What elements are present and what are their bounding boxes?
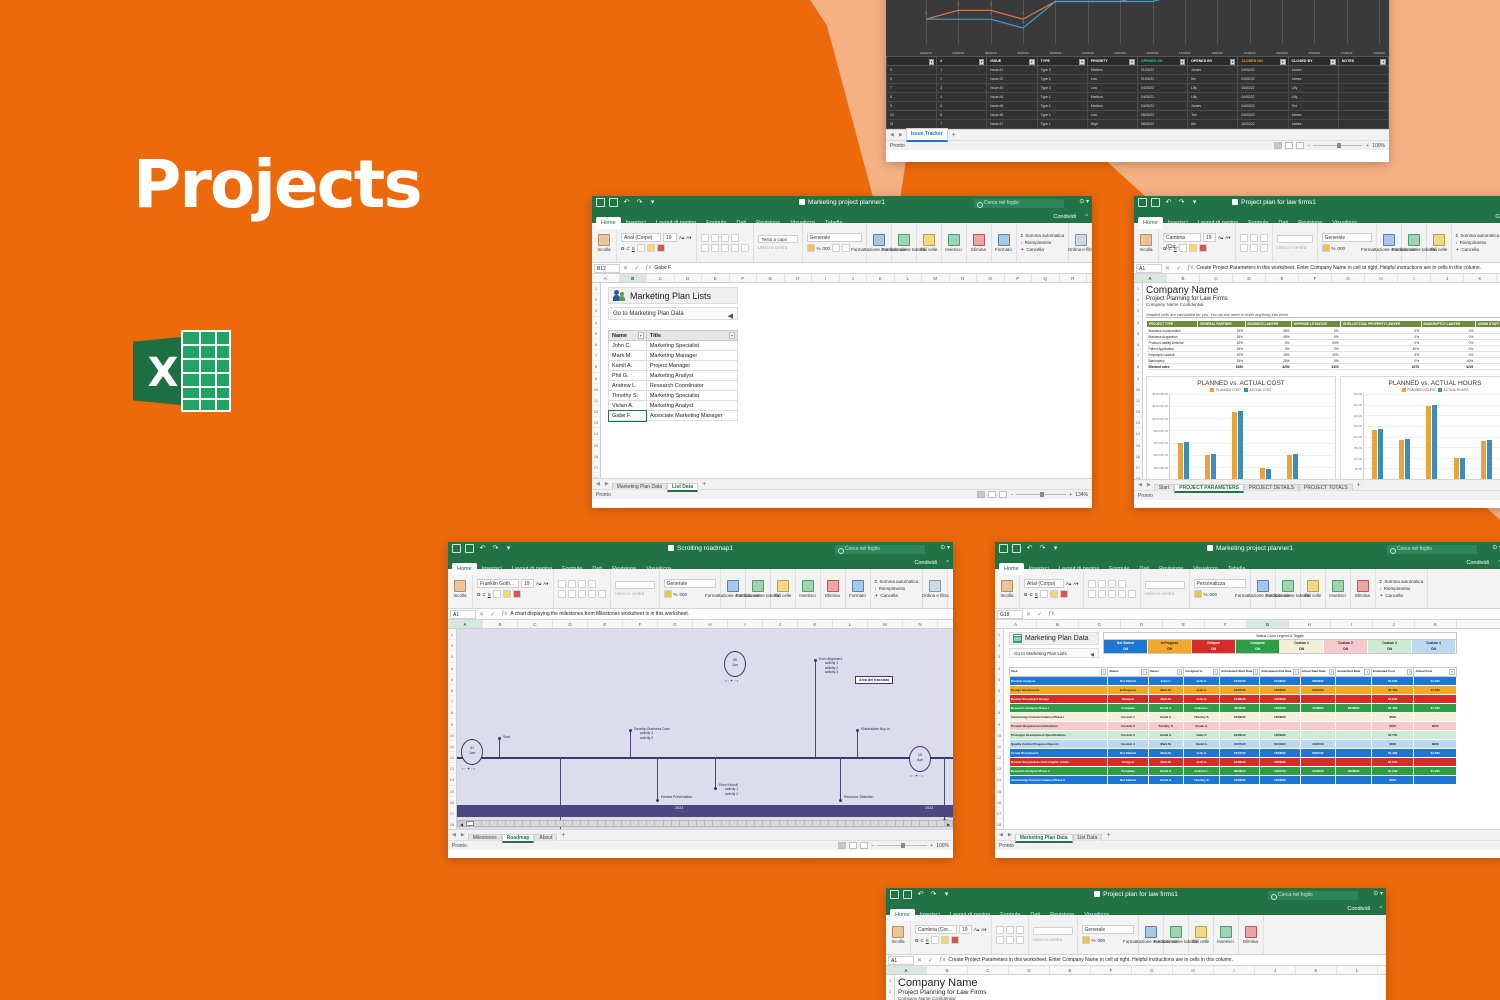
ribbon-tab-visualizza[interactable]: Visualizza (785, 217, 820, 229)
column-header-D[interactable]: D (1233, 274, 1266, 282)
table-cell[interactable]: Product Requirement Definitions (1010, 721, 1108, 730)
row-header-2[interactable]: 2 (1134, 294, 1142, 305)
sheet-nav-prev-icon[interactable]: ◀ (450, 832, 458, 838)
table-cell[interactable]: Quality Control Progress Reports (1010, 739, 1108, 748)
currency-icon[interactable] (664, 590, 672, 598)
table-cell[interactable]: $1.000 (1414, 676, 1457, 685)
row-header-11[interactable]: 11 (995, 741, 1003, 752)
legend-toggle[interactable]: ON (1368, 647, 1411, 653)
column-header-F[interactable]: F (1299, 274, 1332, 282)
zoom-slider[interactable] (1016, 494, 1066, 495)
table-cell[interactable]: Blended rates (1147, 364, 1198, 370)
scrollbar-cell[interactable] (697, 821, 705, 826)
bar-group[interactable]: GENERAL PARTNER (1372, 394, 1383, 479)
comma-icon[interactable]: 000 (1210, 592, 1218, 597)
ribbon-group-format-table[interactable]: Formato come tabella (1276, 569, 1301, 608)
clear-icon[interactable]: ✦ (1380, 593, 1384, 599)
comma-icon[interactable]: 000 (1338, 246, 1346, 251)
legend-item-custom-3[interactable]: Custom 3ON (1368, 640, 1412, 653)
align-top-icon[interactable] (701, 234, 709, 242)
table-row[interactable]: 62Issue #2Type 1Low01/03/22Ibn04/02/22Ja… (887, 75, 1389, 84)
ribbon-group-cells[interactable]: Inserisci (1326, 569, 1351, 608)
column-header-E[interactable]: E (1050, 966, 1091, 974)
align-middle-icon[interactable] (1098, 580, 1106, 588)
cell-styles-icon[interactable] (1195, 926, 1207, 938)
ribbon-group-delete[interactable]: Elimina (821, 569, 846, 608)
autosum-label[interactable]: Somma automatica (879, 579, 918, 584)
column-header-B[interactable]: B (927, 966, 968, 974)
table-cell[interactable]: Ted (1188, 111, 1238, 120)
insert-function-icon[interactable]: ƒx (939, 957, 945, 963)
table-cell[interactable]: Timothy S. (1148, 721, 1184, 730)
bar-planned[interactable] (1454, 458, 1459, 479)
autosum-label[interactable]: Somma automatica (1025, 233, 1064, 238)
ribbon-tab-layout-di-pagina[interactable]: Layout di pagina (651, 217, 701, 229)
zoom-out-icon[interactable]: − (1307, 143, 1310, 149)
font-size-box[interactable]: 19 (1203, 233, 1216, 242)
legend-toggle[interactable]: ON (1192, 647, 1235, 653)
table-row[interactable]: Phil G.Marketing Analyst (609, 371, 738, 381)
titlebar-marketing-data[interactable]: ↶ ↷ ▾ Marketing project planner1 Cerca n… (995, 542, 1500, 557)
scrollbar-cell[interactable] (622, 821, 630, 826)
scrollbar-cell[interactable] (747, 821, 755, 826)
scrollbar-cell[interactable] (738, 821, 746, 826)
table-cell[interactable]: Mark M. (1148, 748, 1184, 757)
date-badge[interactable]: 15Apr (909, 746, 931, 772)
table-cell[interactable]: Ibn (1188, 75, 1238, 84)
row-header-8[interactable]: 8 (995, 707, 1003, 718)
row-header-11[interactable]: 11 (1134, 395, 1142, 406)
legend-toggle[interactable]: ON (1324, 647, 1367, 653)
table-cell[interactable]: 11/08/22 (1300, 766, 1336, 775)
row-header-14[interactable]: 14 (592, 428, 600, 439)
row-header-16[interactable]: 16 (1134, 451, 1142, 462)
column-header-G[interactable]: G (1247, 620, 1289, 628)
percent-icon[interactable]: % (1332, 246, 1336, 251)
table-cell[interactable] (1336, 775, 1372, 784)
column-header-D[interactable]: D (1121, 620, 1163, 628)
ribbon-tab-inserisci[interactable]: Inserisci (621, 217, 651, 229)
scrollbar-cell[interactable] (805, 821, 813, 826)
row-header[interactable]: 8 (887, 93, 937, 102)
bar-actual[interactable] (1238, 411, 1243, 479)
scrollbar-cell[interactable] (904, 821, 912, 826)
column-header-A[interactable]: A (448, 620, 483, 628)
bold-icon[interactable]: G (477, 592, 481, 597)
borders-icon[interactable] (931, 936, 939, 944)
table-cell[interactable]: $125 (1475, 364, 1500, 370)
autosum-icon[interactable]: Σ (875, 579, 878, 584)
cell-styles-icon[interactable] (777, 580, 789, 592)
ribbon-tab-dati[interactable]: Dati (1273, 217, 1293, 229)
bar-actual[interactable] (1432, 405, 1437, 479)
name-box[interactable]: B12 (594, 264, 620, 273)
table-cell[interactable]: Timothy S. (1184, 775, 1220, 784)
ribbon-tab-revisione[interactable]: Revisione (751, 217, 785, 229)
table-cell[interactable] (1300, 721, 1336, 730)
format-as-table-icon[interactable] (1282, 580, 1294, 592)
row-header-15[interactable]: 15 (448, 786, 456, 797)
decrease-indent-icon[interactable] (731, 244, 739, 252)
ribbon-tab-visualizza[interactable]: Visualizza (1327, 217, 1362, 229)
cell-styles-icon[interactable] (1433, 234, 1445, 246)
underline-icon[interactable]: S (632, 246, 635, 251)
column-header-H[interactable]: H (1365, 274, 1398, 282)
ribbon-roadmap[interactable]: Incolla Franklin Goth... 19 A▴ A▾ G C S (448, 569, 953, 609)
go-to-marketing-plan-lists-link[interactable]: Go to Marketing Plan Lists ◀ (1009, 648, 1099, 658)
column-header-M[interactable]: M (922, 274, 950, 282)
font-name-box[interactable]: Arial (Corpo) (1024, 579, 1064, 588)
insert-function-icon[interactable]: ƒx (501, 611, 507, 617)
row-header-15[interactable]: 15 (995, 786, 1003, 797)
add-sheet-icon[interactable]: + (1354, 482, 1364, 489)
column-header-E[interactable]: E (702, 274, 730, 282)
table-cell[interactable]: Type 1 (1037, 75, 1087, 84)
ribbon-tab-revisione[interactable]: Revisione (1293, 217, 1327, 229)
row-header-17[interactable]: 17 (448, 808, 456, 819)
row-header-7[interactable]: 7 (995, 696, 1003, 707)
table-cell[interactable] (1338, 111, 1388, 120)
bar-group[interactable]: BUSINESS LAWYER (1205, 394, 1216, 479)
table-cell[interactable]: $1.499 (1372, 748, 1414, 757)
clear-label[interactable]: Cancella (1461, 247, 1479, 252)
zoom-slider[interactable] (1313, 145, 1363, 146)
table-cell[interactable] (1336, 748, 1372, 757)
table-row[interactable]: 73Issue #3Type 3Low04/03/22Lilly04/03/22… (887, 84, 1389, 93)
table-cell[interactable]: Issue #4 (987, 93, 1037, 102)
table-row[interactable]: Advertising Content Creation Phase ICust… (1010, 712, 1457, 721)
column-header-J[interactable]: J (1373, 620, 1415, 628)
align-center-icon[interactable] (1098, 590, 1106, 598)
table-cell[interactable]: Marketing Specialist (646, 391, 737, 401)
sheet-tab-marketing-plan-data[interactable]: Marketing Plan Data (612, 483, 667, 490)
decrease-indent-icon[interactable] (1118, 590, 1126, 598)
table-row[interactable]: Create StoryboardsNot StartedMark M.John… (1010, 748, 1457, 757)
table-cell[interactable]: 30/08/22 (1260, 694, 1300, 703)
column-header-O[interactable]: O (977, 274, 1005, 282)
sheet-tab-list-data[interactable]: List Data (667, 483, 698, 492)
table-cell[interactable]: Marketing Analyst (646, 401, 737, 411)
row-header-9[interactable]: 9 (592, 373, 600, 384)
column-header-B[interactable]: B (483, 620, 518, 628)
zoom-out-icon[interactable]: − (871, 843, 874, 849)
row-header-7[interactable]: 7 (1134, 350, 1142, 361)
align-left-icon[interactable] (1240, 244, 1248, 252)
column-header-type[interactable]: TYPE (1037, 57, 1087, 66)
row-header-2[interactable]: 2 (886, 986, 894, 997)
table-cell[interactable]: John C. (1184, 748, 1220, 757)
font-name-box[interactable]: Arial (Corpo) (621, 233, 661, 242)
scrollbar-cell[interactable] (854, 821, 862, 826)
sheet-nav-prev-icon[interactable]: ◀ (1136, 482, 1144, 488)
table-cell[interactable]: 08/08/22 (1220, 766, 1260, 775)
table-cell[interactable]: Advertising Content Creation Phase I (1010, 712, 1108, 721)
italic-icon[interactable]: C (483, 592, 486, 597)
table-cell[interactable] (1336, 721, 1372, 730)
table-row[interactable]: Review Storyboards with Graphic ArtistsD… (1010, 757, 1457, 766)
ribbon-tab-visualizza[interactable]: Visualizza (1079, 909, 1114, 921)
table-cell[interactable]: Type 1 (1037, 120, 1087, 129)
column-header-C[interactable]: C (1200, 274, 1233, 282)
clear-icon[interactable]: ✦ (875, 593, 879, 599)
column-header-row-law-firm-bottom[interactable]: ABCDEFGHIJKL (886, 966, 1386, 975)
column-header-K[interactable]: K (1415, 620, 1457, 628)
sheet-nav-next-icon[interactable]: ▶ (459, 832, 467, 838)
row-header-18[interactable]: 18 (1134, 473, 1142, 479)
column-header-priority[interactable]: PRIORITY (1087, 57, 1137, 66)
currency-icon[interactable] (1322, 244, 1330, 252)
table-cell[interactable]: 04/02/22 (1238, 93, 1288, 102)
insert-function-icon[interactable]: ƒx (1187, 265, 1193, 271)
table-row[interactable]: John C.Marketing Specialist (609, 341, 738, 351)
sheet-tab-bar-marketing-data[interactable]: ◀ ▶ Marketing Plan DataList Data + (995, 829, 1500, 840)
row-header[interactable]: 6 (887, 75, 937, 84)
increase-indent-icon[interactable] (1128, 590, 1136, 598)
autosum-label[interactable]: Somma automatica (1384, 579, 1423, 584)
column-header[interactable]: Status (1108, 668, 1148, 677)
align-left-icon[interactable] (558, 590, 566, 598)
table-cell[interactable] (1336, 730, 1372, 739)
scroll-left-icon[interactable]: ◀ (458, 821, 465, 826)
confirm-edit-icon[interactable]: ✓ (490, 611, 495, 618)
confirm-edit-icon[interactable]: ✓ (928, 957, 933, 964)
bar-group[interactable]: DEFENSE LITIGATOR (1426, 394, 1437, 479)
row-header-1[interactable]: 1 (448, 629, 456, 640)
column-header-H[interactable]: H (1289, 620, 1331, 628)
sheet-nav-prev-icon[interactable]: ◀ (997, 832, 1005, 838)
sheet-tab-bar-issue[interactable]: ◀ ▶ Issue Tracker + (886, 129, 1389, 140)
scrollbar-cell[interactable] (821, 821, 829, 826)
scrollbar-cell[interactable] (780, 821, 788, 826)
sheet-tab-start[interactable]: Start (1154, 484, 1175, 491)
legend-item-not-started[interactable]: Not StartedON (1104, 640, 1148, 653)
column-header-R[interactable]: R (1060, 274, 1088, 282)
insert-function-icon[interactable]: ƒx (645, 265, 651, 271)
ribbon-tab-visualizza[interactable]: Visualizza (641, 563, 676, 575)
share-button[interactable]: Condividi (914, 557, 937, 569)
column-header-K[interactable]: K (1464, 274, 1497, 282)
row-header-6[interactable]: 6 (995, 685, 1003, 696)
ribbon-law-firm-bottom[interactable]: Incolla Cambria (Cor... 19 A▴ A▾ G C S (886, 915, 1386, 955)
table-cell[interactable] (1338, 102, 1388, 111)
legend-toggle[interactable]: ON (1236, 647, 1279, 653)
font-name-box[interactable]: Cambria (Cor... (915, 925, 957, 934)
share-button[interactable]: Condividi (1053, 211, 1076, 223)
align-top-icon[interactable] (1088, 580, 1096, 588)
bold-icon[interactable]: G (915, 938, 919, 943)
table-cell[interactable] (1220, 721, 1260, 730)
bar-actual[interactable] (1487, 440, 1492, 479)
scrollbar-cell[interactable] (564, 821, 572, 826)
insert-cells-icon[interactable] (948, 234, 960, 246)
titlebar-law-firm[interactable]: ↶ ↷ ▾ Project plan for law firms1 (1134, 196, 1500, 211)
zoom-slider[interactable] (877, 845, 927, 846)
bar-group[interactable]: ADMIN STAFF (1314, 394, 1325, 479)
table-cell[interactable]: Kamil A. (1148, 766, 1184, 775)
row-header-column[interactable]: 123456789101112131415161718 (592, 283, 601, 478)
row-header-4[interactable]: 4 (592, 317, 600, 328)
table-cell[interactable] (1336, 676, 1372, 685)
table-cell[interactable] (1260, 721, 1300, 730)
ribbon-group-sort[interactable]: Ordina e filtra (1069, 223, 1092, 262)
fill-label[interactable]: Riempimento (1025, 240, 1052, 245)
table-cell[interactable]: Associate Marketing Manager (646, 411, 737, 421)
increase-indent-icon[interactable] (741, 244, 749, 252)
sort-filter-icon[interactable] (1075, 234, 1087, 246)
bar-planned[interactable] (1426, 406, 1431, 479)
table-cell[interactable]: Kamil A. (1148, 775, 1184, 784)
ribbon-group-delete[interactable]: Elimina (1239, 915, 1264, 954)
table-cell[interactable]: 16/06/22 (1220, 730, 1260, 739)
comma-icon[interactable]: 000 (680, 592, 688, 597)
scrollbar-cell[interactable] (490, 821, 498, 826)
paste-icon[interactable] (892, 926, 904, 938)
sheet-nav-next-icon[interactable]: ▶ (1006, 832, 1014, 838)
bar-actual[interactable] (1184, 442, 1189, 479)
table-cell[interactable]: Marketing Specialist (646, 341, 737, 351)
row-header-column[interactable]: 123456789101112131415161718 (1134, 283, 1143, 479)
currency-icon[interactable] (807, 244, 815, 252)
sheet-tab-project-details[interactable]: PROJECT DETAILS (1244, 484, 1299, 491)
table-row[interactable]: Review Storyboard DesignDelayedMark M.Jo… (1010, 694, 1457, 703)
column-header-opened-on[interactable]: OPENED ON (1137, 57, 1187, 66)
column-header-E[interactable]: E (1163, 620, 1205, 628)
percent-icon[interactable]: % (1204, 592, 1208, 597)
table-cell[interactable] (1336, 739, 1372, 748)
table-cell[interactable]: Delayed (1108, 694, 1148, 703)
row-header-5[interactable]: 5 (592, 328, 600, 339)
percent-icon[interactable]: % (817, 246, 821, 251)
row-header-1[interactable]: 1 (886, 975, 894, 986)
scrollbar-cell[interactable] (755, 821, 763, 826)
font-size-box[interactable]: 19 (521, 579, 534, 588)
table-cell[interactable]: James (1188, 102, 1238, 111)
view-pagebreak-icon[interactable] (1296, 142, 1304, 149)
table-cell[interactable] (1414, 757, 1457, 766)
bar-group[interactable]: GENERAL PARTNER (1178, 394, 1189, 479)
bar-actual[interactable] (1405, 439, 1410, 479)
table-cell[interactable]: 03/07/22 (1300, 685, 1336, 694)
borders-icon[interactable] (637, 244, 645, 252)
ribbon-group-cell-styles[interactable]: Stili celle (1301, 569, 1326, 608)
ribbon-group-format-table[interactable]: Formato come tabella (1164, 915, 1189, 954)
fill-label[interactable]: Riempimento (1384, 586, 1411, 591)
table-cell[interactable]: $250 (1245, 364, 1292, 370)
table-row[interactable]: Timothy S.Marketing Specialist (609, 391, 738, 401)
legend-toggle[interactable]: ON (1148, 647, 1191, 653)
column-header-C[interactable]: C (647, 274, 675, 282)
row-header-column[interactable]: 123456789 (886, 975, 895, 1000)
table-cell[interactable] (1338, 93, 1388, 102)
table-cell[interactable]: $1.600 (1372, 757, 1414, 766)
table-cell[interactable]: Medium (1087, 66, 1137, 75)
sheet-tab-list-data[interactable]: List Data (1073, 834, 1103, 841)
column-header-I[interactable]: I (728, 620, 763, 628)
sheet-nav-prev-icon[interactable]: ◀ (594, 481, 602, 487)
underline-icon[interactable]: S (1174, 246, 1177, 251)
row-header-4[interactable]: 4 (1134, 317, 1142, 328)
view-pagebreak-icon[interactable] (999, 491, 1007, 498)
table-cell[interactable]: 04/03/22 (1238, 84, 1288, 93)
column-header-I[interactable]: I (1214, 966, 1255, 974)
table-cell[interactable]: Marketing Manager (646, 351, 737, 361)
ribbon-group-styles[interactable]: Formattazione condizionale (867, 223, 892, 262)
table-cell[interactable]: Research Coordinator (646, 381, 737, 391)
table-cell[interactable]: Not Started (1108, 775, 1148, 784)
ribbon-tab-formule[interactable]: Formule (1243, 217, 1273, 229)
clear-label[interactable]: Cancella (1385, 593, 1403, 598)
table-cell[interactable]: Low (1087, 84, 1137, 93)
scrollbar-cell[interactable] (871, 821, 879, 826)
column-header[interactable]: Anticipated End Date (1260, 668, 1300, 677)
fill-color-icon[interactable] (941, 936, 949, 944)
ribbon-tab-dati[interactable]: Dati (731, 217, 751, 229)
sheet-grid-law-firm-bottom[interactable]: 123456789 Company Name Project Planning … (886, 975, 1386, 1000)
insert-cells-icon[interactable] (1220, 926, 1232, 938)
scrollbar-cell[interactable] (863, 821, 871, 826)
row-header-8[interactable]: 8 (448, 707, 456, 718)
table-cell[interactable]: Low (1087, 75, 1137, 84)
scrollbar-cell[interactable] (631, 821, 639, 826)
table-cell[interactable]: Lilly (1288, 93, 1338, 102)
column-header-F[interactable]: F (1091, 966, 1132, 974)
table-cell[interactable]: John C. (1148, 676, 1184, 685)
row-header-17[interactable]: 17 (995, 808, 1003, 819)
table-cell[interactable]: $1.299 (1372, 766, 1414, 775)
table-cell[interactable]: Not Started (1108, 676, 1148, 685)
table-cell[interactable]: 16/07/22 (1220, 685, 1260, 694)
table-cell[interactable]: Custom 3 (1108, 721, 1148, 730)
scrollbar-cell[interactable] (788, 821, 796, 826)
table-cell[interactable]: Phil G. (609, 371, 647, 381)
orientation-icon[interactable] (1118, 580, 1126, 588)
column-header-name[interactable]: Name (609, 331, 647, 341)
window-options-icon[interactable]: ⊙ ▾ (1079, 198, 1089, 205)
bar-group[interactable]: INTELLECTUAL PROPERTY (1454, 394, 1465, 479)
align-center-icon[interactable] (711, 244, 719, 252)
table-cell[interactable] (1336, 757, 1372, 766)
row-header-9[interactable]: 9 (448, 719, 456, 730)
italic-icon[interactable]: C (627, 246, 630, 251)
table-cell[interactable]: $1.000 (1372, 676, 1414, 685)
column-header-K[interactable]: K (1296, 966, 1337, 974)
row-header-5[interactable]: 5 (448, 674, 456, 685)
scrollbar-cell[interactable] (589, 821, 597, 826)
font-color-icon[interactable] (1060, 590, 1068, 598)
ribbon-tab-tabella[interactable]: Tabella (1223, 563, 1250, 575)
row-header-10[interactable]: 10 (1134, 384, 1142, 395)
borders-icon[interactable] (1179, 244, 1187, 252)
column-header-I[interactable]: I (812, 274, 840, 282)
ribbon-group-styles[interactable]: Formattazione condizionale (1139, 915, 1164, 954)
align-middle-icon[interactable] (711, 234, 719, 242)
zoom-in-icon[interactable]: + (1069, 492, 1072, 498)
bar-actual[interactable] (1266, 469, 1271, 479)
name-box[interactable]: A1 (888, 956, 914, 965)
table-cell[interactable] (1338, 66, 1388, 75)
ribbon-marketing-data[interactable]: Incolla Arial (Corpo) A▴ A▾ G C S (995, 569, 1500, 609)
row-header-10[interactable]: 10 (995, 730, 1003, 741)
table-cell[interactable]: Lilly (1188, 93, 1238, 102)
table-row[interactable]: 51Issue #1Type 2Medium01/03/22James04/02… (887, 66, 1389, 75)
column-header[interactable]: Actual Cost (1414, 668, 1457, 677)
column-header-A[interactable]: A (886, 966, 927, 974)
row-header-6[interactable]: 6 (592, 339, 600, 350)
table-row[interactable]: Vivian A.Marketing Analyst (609, 401, 738, 411)
titlebar-marketing-planner[interactable]: ↶ ↷ ▾ Marketing project planner1 Cerca n… (592, 196, 1092, 211)
sheet-nav-next-icon[interactable]: ▶ (897, 132, 905, 138)
go-to-marketing-plan-data-link[interactable]: Go to Marketing Plan Data ◀ (608, 307, 738, 320)
